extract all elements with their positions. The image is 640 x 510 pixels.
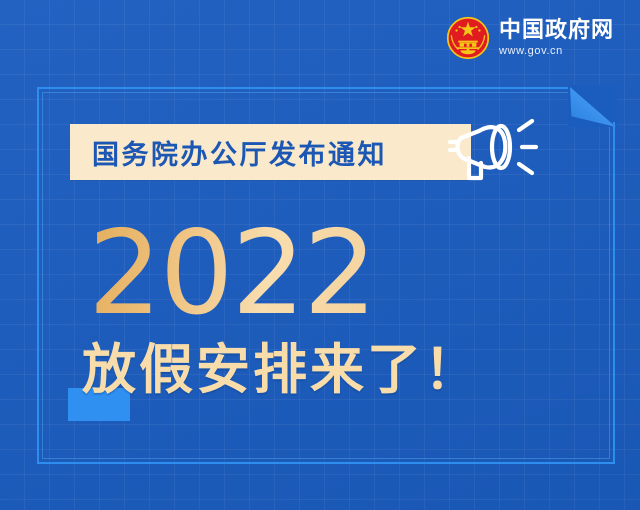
site-name: 中国政府网 <box>499 19 614 41</box>
gov-site-logo[interactable]: 中国政府网 www.gov.cn <box>446 16 614 60</box>
notice-label: 国务院办公厅发布通知 <box>92 133 387 172</box>
china-national-emblem-icon <box>446 16 490 60</box>
site-url: www.gov.cn <box>499 46 614 57</box>
year-display: 2022 <box>88 216 375 332</box>
notice-banner: 国务院办公厅发布通知 <box>70 124 471 180</box>
logo-text-block: 中国政府网 www.gov.cn <box>499 19 614 57</box>
frame-right-edge <box>613 122 615 463</box>
headline-text: 放假安排来了！ <box>82 342 481 399</box>
poster-canvas: 中国政府网 www.gov.cn 国务院办公厅发布通知 2022 放假安排 <box>0 0 640 510</box>
folded-corner-icon <box>570 87 616 127</box>
folded-corner-cutout <box>568 85 617 127</box>
